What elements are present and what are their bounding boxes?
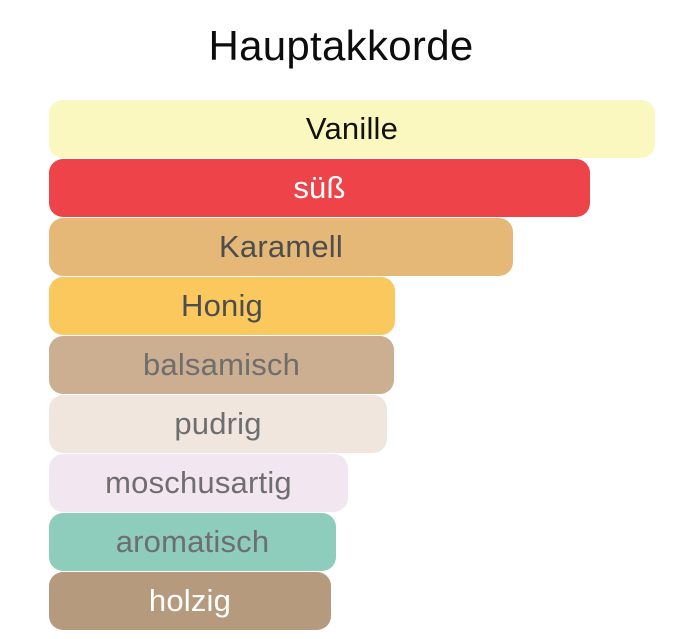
bar-row: Honig <box>0 277 682 335</box>
accord-bar[interactable]: Vanille <box>49 100 655 158</box>
bar-list: VanillesüßKaramellHonigbalsamischpudrigm… <box>0 100 682 631</box>
accord-bar-label: holzig <box>149 585 231 618</box>
accord-bar-label: balsamisch <box>143 349 300 382</box>
accord-bar[interactable]: süß <box>49 159 590 217</box>
bar-row: aromatisch <box>0 513 682 571</box>
accord-bar[interactable]: balsamisch <box>49 336 394 394</box>
accord-bar[interactable]: aromatisch <box>49 513 336 571</box>
accord-bar[interactable]: holzig <box>49 572 331 630</box>
accord-bar-label: aromatisch <box>116 526 270 559</box>
bar-row: pudrig <box>0 395 682 453</box>
accord-bar[interactable]: pudrig <box>49 395 387 453</box>
accord-bar-label: pudrig <box>174 408 261 441</box>
accord-bar[interactable]: Karamell <box>49 218 513 276</box>
accord-bar-label: süß <box>293 172 345 205</box>
main-accords-chart: Hauptakkorde VanillesüßKaramellHonigbals… <box>0 0 682 639</box>
accord-bar-label: Karamell <box>219 231 343 264</box>
bar-row: Vanille <box>0 100 682 158</box>
bar-row: balsamisch <box>0 336 682 394</box>
bar-row: Karamell <box>0 218 682 276</box>
accord-bar[interactable]: moschusartig <box>49 454 348 512</box>
accord-bar-label: moschusartig <box>105 467 292 500</box>
bar-row: holzig <box>0 572 682 630</box>
page-title: Hauptakkorde <box>0 22 682 70</box>
bar-row: moschusartig <box>0 454 682 512</box>
bar-row: süß <box>0 159 682 217</box>
accord-bar-label: Vanille <box>306 113 398 146</box>
accord-bar[interactable]: Honig <box>49 277 395 335</box>
accord-bar-label: Honig <box>181 290 263 323</box>
